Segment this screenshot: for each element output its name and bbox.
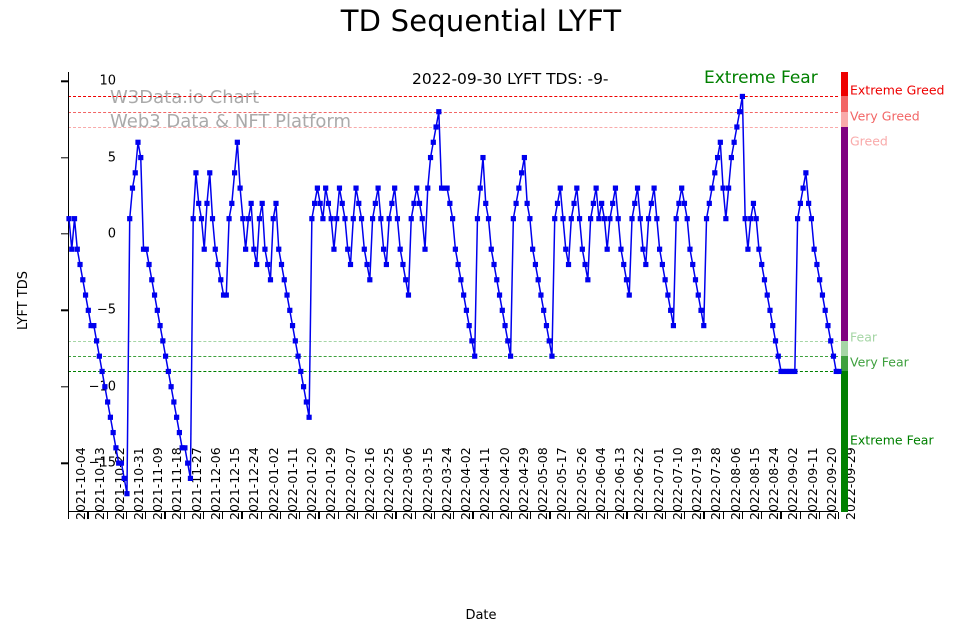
series-marker [182,445,187,450]
series-marker [329,216,334,221]
series-marker [588,216,593,221]
series-marker [754,216,759,221]
series-marker [387,216,392,221]
x-tick-mark [492,512,493,519]
series-marker [160,338,165,343]
series-marker [417,201,422,206]
series-marker [307,415,312,420]
series-marker [687,247,692,252]
colorbar-segment [841,371,848,512]
series-marker [756,247,761,252]
series-marker [276,247,281,252]
series-marker [767,308,772,313]
series-marker [613,186,618,191]
series-marker [199,216,204,221]
x-tick-mark [261,512,262,519]
x-tick-mark [126,512,127,519]
series-marker [514,201,519,206]
series-marker [373,201,378,206]
series-marker [610,201,615,206]
series-marker [232,170,237,175]
series-marker [709,186,714,191]
series-marker [563,247,568,252]
series-marker [497,292,502,297]
chart-canvas: TD Sequential LYFT 2022-09-30 LYFT TDS: … [0,0,962,633]
series-marker [486,216,491,221]
series-marker [235,140,240,145]
series-marker [596,216,601,221]
series-marker [629,216,634,221]
series-marker [290,323,295,328]
series-marker [616,216,621,221]
x-tick-mark [376,512,377,519]
series-marker [698,308,703,313]
series-marker [102,384,107,389]
series-marker [218,277,223,282]
series-marker [464,308,469,313]
series-marker [483,201,488,206]
series-marker [210,216,215,221]
colorbar-segment [841,72,848,96]
colorbar-segment [841,341,848,356]
series-marker [295,354,300,359]
series-marker [511,216,516,221]
series-marker [475,216,480,221]
series-marker [246,216,251,221]
series-marker [251,247,256,252]
series-marker [166,369,171,374]
x-tick-mark [819,512,820,519]
x-tick-mark [107,512,108,519]
zone-label: Very Fear [850,355,909,370]
series-marker [249,201,254,206]
series-marker [152,292,157,297]
series-marker [389,201,394,206]
series-marker [533,262,538,267]
series-marker [472,354,477,359]
series-marker [574,186,579,191]
series-marker [66,216,71,221]
series-marker [337,186,342,191]
series-marker [549,354,554,359]
series-marker [712,170,717,175]
series-marker [304,399,309,404]
x-tick-mark [357,512,358,519]
series-line [69,96,839,493]
x-tick-mark [800,512,801,519]
x-tick-mark [511,512,512,519]
series-marker [809,216,814,221]
series-marker [105,399,110,404]
series-marker [715,155,720,160]
series-marker [100,369,105,374]
x-tick-mark [184,512,185,519]
series-marker [351,216,356,221]
series-marker [97,354,102,359]
y-tick-mark [61,157,68,158]
series-marker [215,262,220,267]
series-marker [502,323,507,328]
series-marker [759,262,764,267]
series-marker [406,292,411,297]
series-marker [522,155,527,160]
series-marker [665,292,670,297]
series-marker [776,354,781,359]
series-marker [345,247,350,252]
series-marker [130,186,135,191]
x-tick-mark [222,512,223,519]
series-marker [138,155,143,160]
x-tick-mark [549,512,550,519]
x-tick-mark [761,512,762,519]
zone-label: Very Greed [850,108,920,123]
series-marker [825,323,830,328]
x-tick-mark [472,512,473,519]
chart-title: TD Sequential LYFT [0,4,962,38]
series-marker [707,201,712,206]
series-marker [414,186,419,191]
series-marker [177,430,182,435]
x-tick-mark [569,512,570,519]
series-marker [409,216,414,221]
series-marker [635,186,640,191]
series-marker [171,399,176,404]
series-marker [124,491,129,496]
series-marker [185,461,190,466]
series-marker [657,247,662,252]
series-marker [398,247,403,252]
x-tick-mark [723,512,724,519]
series-marker [453,247,458,252]
series-marker [508,354,513,359]
x-tick-mark [145,512,146,519]
series-marker [431,140,436,145]
series-marker [91,323,96,328]
series-marker [801,186,806,191]
series-marker [149,277,154,282]
series-marker [381,247,386,252]
y-tick-mark [61,80,68,81]
x-tick-mark [780,512,781,519]
series-marker [624,277,629,282]
series-marker [527,216,532,221]
series-marker [326,201,331,206]
series-marker [806,201,811,206]
tds-line-series [69,72,839,512]
zone-label: Greed [850,134,888,149]
series-marker [605,247,610,252]
series-marker [122,476,127,481]
series-marker [111,430,116,435]
x-tick-mark [453,512,454,519]
series-marker [268,277,273,282]
series-marker [685,216,690,221]
series-marker [792,369,797,374]
series-marker [745,247,750,252]
series-marker [500,308,505,313]
series-marker [425,186,430,191]
series-marker [555,201,560,206]
series-marker [530,247,535,252]
x-tick-mark [87,512,88,519]
x-tick-mark [626,512,627,519]
series-marker [456,262,461,267]
series-marker [649,201,654,206]
series-marker [798,201,803,206]
series-marker [287,308,292,313]
series-marker [188,476,193,481]
x-tick-mark [415,512,416,519]
colorbar-segment [841,112,848,127]
x-tick-mark [646,512,647,519]
series-marker [591,201,596,206]
series-marker [279,262,284,267]
series-marker [627,292,632,297]
series-marker [671,323,676,328]
series-marker [701,323,706,328]
series-marker [378,216,383,221]
series-marker [315,186,320,191]
series-marker [240,216,245,221]
series-marker [732,140,737,145]
series-marker [353,186,358,191]
series-marker [651,186,656,191]
series-marker [146,262,151,267]
series-marker [229,201,234,206]
series-marker [718,140,723,145]
series-marker [370,216,375,221]
y-tick-mark [61,462,68,463]
series-marker [803,170,808,175]
zone-label: Fear [850,329,877,344]
series-marker [640,247,645,252]
x-tick-mark [164,512,165,519]
series-marker [726,186,731,191]
series-marker [544,323,549,328]
series-marker [320,216,325,221]
x-tick-mark [318,512,319,519]
series-marker [364,262,369,267]
series-marker [602,216,607,221]
series-marker [196,201,201,206]
series-marker [298,369,303,374]
series-marker [262,247,267,252]
series-marker [770,323,775,328]
series-marker [538,292,543,297]
series-marker [135,140,140,145]
series-marker [569,216,574,221]
series-marker [108,415,113,420]
series-marker [169,384,174,389]
series-marker [340,201,345,206]
series-marker [436,109,441,114]
x-tick-mark [530,512,531,519]
x-tick-mark [434,512,435,519]
series-marker [632,201,637,206]
series-marker [828,338,833,343]
series-marker [69,247,74,252]
series-marker [323,186,328,191]
series-marker [83,292,88,297]
x-tick-mark [742,512,743,519]
series-marker [723,216,728,221]
series-marker [461,292,466,297]
series-marker [119,461,124,466]
series-marker [682,201,687,206]
series-marker [748,216,753,221]
series-marker [773,338,778,343]
x-tick-mark [665,512,666,519]
series-marker [812,247,817,252]
series-marker [817,277,822,282]
series-marker [362,247,367,252]
series-marker [411,201,416,206]
series-marker [342,216,347,221]
series-marker [163,354,168,359]
series-marker [541,308,546,313]
series-marker [814,262,819,267]
series-marker [133,170,138,175]
series-marker [428,155,433,160]
series-marker [174,415,179,420]
series-marker [516,186,521,191]
series-marker [331,247,336,252]
series-marker [599,201,604,206]
series-marker [202,247,207,252]
series-marker [77,262,82,267]
series-marker [157,323,162,328]
series-marker [359,216,364,221]
series-marker [489,247,494,252]
y-tick-mark [61,386,68,387]
x-tick-mark [395,512,396,519]
colorbar-segment [841,96,848,111]
series-marker [334,216,339,221]
series-marker [668,308,673,313]
series-marker [376,186,381,191]
series-marker [660,262,665,267]
series-marker [795,216,800,221]
series-marker [654,216,659,221]
series-marker [618,247,623,252]
series-marker [734,124,739,129]
series-marker [422,247,427,252]
series-marker [144,247,149,252]
series-marker [720,186,725,191]
series-marker [607,216,612,221]
zone-label: Extreme Fear [850,433,934,448]
series-marker [580,247,585,252]
series-marker [445,186,450,191]
series-marker [392,186,397,191]
colorbar-segment [841,127,848,341]
series-marker [273,201,278,206]
series-marker [420,216,425,221]
series-marker [676,201,681,206]
x-tick-mark [203,512,204,519]
y-tick-mark [61,233,68,234]
series-marker [207,170,212,175]
x-tick-mark [299,512,300,519]
series-marker [690,262,695,267]
series-marker [367,277,372,282]
series-marker [213,247,218,252]
series-marker [765,292,770,297]
series-marker [525,201,530,206]
x-tick-mark [607,512,608,519]
x-tick-mark [703,512,704,519]
x-tick-mark [588,512,589,519]
series-marker [478,186,483,191]
series-marker [72,216,77,221]
series-marker [75,247,80,252]
series-marker [238,186,243,191]
series-marker [823,308,828,313]
series-marker [743,216,748,221]
series-marker [260,201,265,206]
series-marker [312,201,317,206]
series-marker [271,216,276,221]
series-marker [155,308,160,313]
series-marker [265,262,270,267]
series-marker [831,354,836,359]
series-marker [505,338,510,343]
series-marker [193,170,198,175]
series-marker [204,201,209,206]
series-marker [494,277,499,282]
series-marker [519,170,524,175]
series-marker [643,262,648,267]
series-marker [693,277,698,282]
series-marker [243,247,248,252]
series-marker [395,216,400,221]
series-marker [571,201,576,206]
x-tick-mark [684,512,685,519]
x-axis-label: Date [0,608,962,623]
series-marker [696,292,701,297]
series-marker [594,186,599,191]
series-marker [356,201,361,206]
series-marker [469,338,474,343]
series-marker [491,262,496,267]
series-marker [94,338,99,343]
series-marker [729,155,734,160]
x-tick-mark [838,512,839,519]
series-marker [301,384,306,389]
series-marker [536,277,541,282]
series-marker [704,216,709,221]
series-marker [113,445,118,450]
colorbar-segment [841,356,848,371]
series-marker [348,262,353,267]
series-marker [674,216,679,221]
series-marker [80,277,85,282]
series-marker [737,109,742,114]
y-tick-mark [61,310,68,311]
series-marker [566,262,571,267]
series-marker [577,216,582,221]
series-marker [293,338,298,343]
series-marker [433,124,438,129]
series-marker [226,216,231,221]
series-marker [254,262,259,267]
series-marker [318,201,323,206]
series-marker [127,216,132,221]
series-marker [762,277,767,282]
x-tick-mark [68,512,69,519]
series-marker [86,308,91,313]
series-marker [191,216,196,221]
